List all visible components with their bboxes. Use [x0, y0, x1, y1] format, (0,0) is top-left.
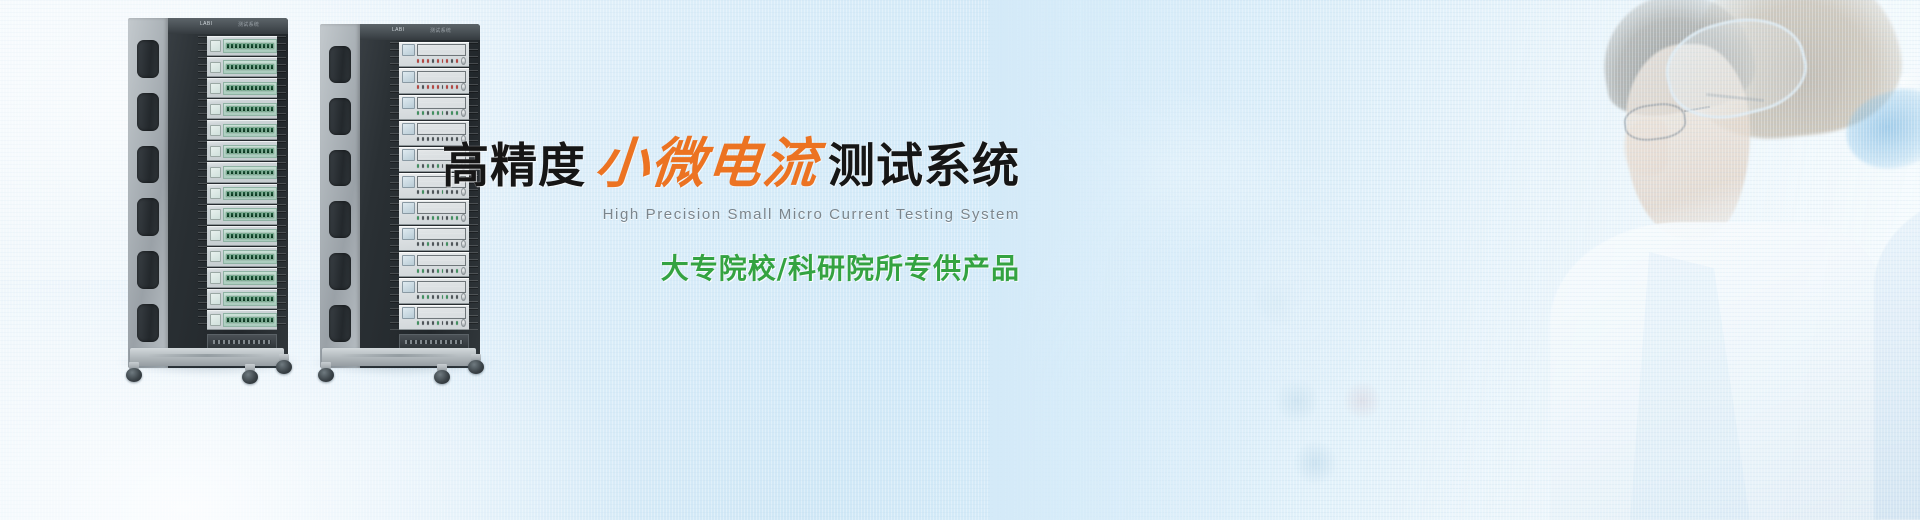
instrument-button — [427, 190, 429, 194]
instrument-button — [417, 111, 419, 115]
instrument-button — [417, 242, 419, 246]
rack-module-green-io — [207, 268, 277, 288]
instrument-button — [456, 295, 458, 299]
instrument-button — [437, 321, 439, 325]
instrument-button — [422, 321, 424, 325]
module-connector — [270, 317, 274, 323]
module-display — [210, 230, 221, 241]
instrument-button — [451, 59, 453, 63]
instrument-button — [422, 269, 424, 273]
instrument-lcd — [402, 307, 415, 319]
instrument-button-row — [402, 83, 466, 92]
rack-module-green-io — [207, 57, 277, 77]
module-display — [210, 83, 221, 94]
instrument-button — [451, 321, 453, 325]
rack-brand-logo: LABI — [200, 21, 212, 27]
instrument-lcd — [402, 281, 415, 293]
instrument-button — [417, 59, 419, 63]
module-display — [210, 251, 221, 262]
instrument-button — [456, 85, 458, 89]
instrument-button — [422, 59, 424, 63]
rack-module-instrument — [399, 305, 469, 330]
rack-rail-right — [277, 36, 286, 330]
instrument-button — [427, 216, 429, 220]
instrument-button — [427, 85, 429, 89]
rack-module-green-io — [207, 226, 277, 246]
instrument-button — [442, 85, 444, 89]
instrument-button — [422, 216, 424, 220]
module-connector — [270, 212, 274, 218]
lab-scientists-photo — [990, 0, 1920, 520]
instrument-lcd — [402, 44, 415, 56]
instrument-button — [417, 164, 419, 168]
product-banner: LABI 测试系统 LABI — [0, 0, 1920, 520]
instrument-top-row — [402, 97, 466, 109]
instrument-button — [446, 295, 448, 299]
instrument-button — [456, 111, 458, 115]
module-connector — [270, 296, 274, 302]
module-connector — [270, 85, 274, 91]
rack-top-cap: LABI 测试系统 — [166, 18, 288, 34]
instrument-button — [446, 85, 448, 89]
rack-module-instrument — [399, 42, 469, 67]
module-connector-strip — [223, 250, 277, 263]
module-connector-strip — [223, 124, 277, 137]
instrument-button — [417, 321, 419, 325]
module-connector — [270, 106, 274, 112]
rack-base-plinth — [322, 348, 476, 366]
rack-module-green-io — [207, 184, 277, 204]
module-connector — [270, 64, 274, 70]
banner-subtitle: High Precision Small Micro Current Testi… — [430, 206, 1020, 223]
instrument-button — [432, 295, 434, 299]
instrument-lcd — [402, 123, 415, 135]
instrument-button — [427, 242, 429, 246]
instrument-readout-panel — [417, 71, 466, 83]
rack-module-green-io — [207, 205, 277, 225]
module-connector — [270, 170, 274, 176]
instrument-button — [451, 85, 453, 89]
module-connector-strip — [223, 292, 277, 305]
instrument-lcd — [402, 97, 415, 109]
rack-caster-wheel — [468, 354, 484, 374]
module-connector — [270, 148, 274, 154]
instrument-lcd — [402, 71, 415, 83]
rack-side-vents — [329, 46, 351, 342]
instrument-button — [422, 137, 424, 141]
module-connector-strip — [223, 208, 277, 221]
module-display — [210, 40, 221, 51]
rack-module-green-io — [207, 141, 277, 161]
instrument-knob — [461, 57, 466, 65]
module-display — [210, 62, 221, 73]
module-connector-strip — [223, 60, 277, 73]
module-display — [210, 293, 221, 304]
instrument-button — [437, 111, 439, 115]
instrument-button — [451, 111, 453, 115]
instrument-button — [446, 321, 448, 325]
headline-prefix: 高精度 — [442, 143, 586, 190]
rack-model-label: 测试系统 — [430, 27, 451, 34]
rack-module-green-io — [207, 289, 277, 309]
instrument-knob — [461, 83, 466, 91]
instrument-knob — [461, 109, 466, 117]
module-connector-strip — [223, 187, 277, 200]
rack-module-green-io — [207, 247, 277, 267]
instrument-lcd — [402, 149, 415, 161]
module-display — [210, 125, 221, 136]
module-display — [210, 188, 221, 199]
rack-rail-left — [390, 42, 399, 330]
instrument-button-row — [402, 319, 466, 328]
instrument-button — [417, 295, 419, 299]
module-connector-strip — [223, 145, 277, 158]
instrument-button — [437, 59, 439, 63]
instrument-button — [442, 295, 444, 299]
instrument-button — [422, 242, 424, 246]
instrument-button — [442, 111, 444, 115]
rack-caster-wheel — [242, 364, 258, 384]
rack-caster-wheel — [276, 354, 292, 374]
instrument-button — [427, 321, 429, 325]
instrument-button — [427, 269, 429, 273]
instrument-button — [417, 190, 419, 194]
instrument-button — [422, 164, 424, 168]
instrument-knob — [461, 319, 466, 327]
instrument-rack-green-modules: LABI 测试系统 — [128, 18, 288, 368]
rack-model-label: 测试系统 — [238, 21, 259, 28]
instrument-top-row — [402, 44, 466, 56]
instrument-button — [422, 295, 424, 299]
instrument-top-row — [402, 307, 466, 319]
rack-frame: LABI 测试系统 — [162, 18, 288, 368]
instrument-button — [446, 59, 448, 63]
rack-top-cap: LABI 测试系统 — [358, 24, 480, 40]
instrument-button — [432, 59, 434, 63]
module-display — [210, 146, 221, 157]
rack-caster-wheel — [434, 364, 450, 384]
module-connector-strip — [223, 166, 277, 179]
module-display — [210, 272, 221, 283]
module-connector-strip — [223, 82, 277, 95]
rack-module-stack — [207, 36, 277, 330]
module-connector-strip — [223, 229, 277, 242]
instrument-button — [456, 321, 458, 325]
rack-module-green-io — [207, 36, 277, 56]
module-connector-strip — [223, 39, 277, 52]
module-connector — [270, 275, 274, 281]
module-display — [210, 104, 221, 115]
instrument-button — [417, 85, 419, 89]
module-connector — [270, 127, 274, 133]
rack-module-instrument — [399, 95, 469, 120]
instrument-button — [432, 111, 434, 115]
instrument-button-row — [402, 293, 466, 302]
instrument-button — [417, 137, 419, 141]
rack-module-green-io — [207, 162, 277, 182]
module-display — [210, 209, 221, 220]
instrument-top-row — [402, 71, 466, 83]
instrument-button — [422, 190, 424, 194]
instrument-lcd — [402, 202, 415, 214]
instrument-button — [446, 111, 448, 115]
instrument-button — [442, 321, 444, 325]
headline-highlight: 小微电流 — [593, 136, 822, 190]
rack-module-green-io — [207, 99, 277, 119]
rack-module-green-io — [207, 120, 277, 140]
instrument-readout-panel — [417, 44, 466, 56]
instrument-button — [417, 269, 419, 273]
module-connector-strip — [223, 313, 277, 326]
instrument-knob — [461, 293, 466, 301]
module-connector — [270, 191, 274, 197]
rack-side-panel — [320, 24, 360, 368]
instrument-button — [442, 59, 444, 63]
rack-module-instrument — [399, 68, 469, 93]
instrument-readout-panel — [417, 307, 466, 319]
instrument-button — [427, 137, 429, 141]
banner-tagline: 大专院校/科研院所专供产品 — [430, 247, 1020, 287]
instrument-button-row — [402, 56, 466, 65]
rack-side-panel — [128, 18, 168, 368]
instrument-button — [432, 321, 434, 325]
module-connector-strip — [223, 271, 277, 284]
instrument-button — [437, 295, 439, 299]
module-connector — [270, 43, 274, 49]
module-connector — [270, 254, 274, 260]
instrument-button — [417, 216, 419, 220]
instrument-button — [422, 85, 424, 89]
module-connector — [270, 233, 274, 239]
instrument-lcd — [402, 255, 415, 267]
instrument-button — [427, 59, 429, 63]
module-display — [210, 314, 221, 325]
instrument-lcd — [402, 228, 415, 240]
instrument-button — [451, 295, 453, 299]
instrument-lcd — [402, 176, 415, 188]
instrument-readout-panel — [417, 97, 466, 109]
page-title: 高精度 小微电流 测试系统 — [430, 128, 1020, 190]
module-connector-strip — [223, 103, 277, 116]
instrument-button — [422, 111, 424, 115]
instrument-button — [437, 85, 439, 89]
headline-suffix: 测试系统 — [828, 143, 1020, 190]
instrument-button-row — [402, 109, 466, 118]
rack-rail-left — [198, 36, 207, 330]
rack-side-vents — [137, 40, 159, 342]
rack-caster-wheel — [126, 362, 142, 382]
instrument-button — [427, 295, 429, 299]
instrument-button — [427, 164, 429, 168]
banner-copy: 高精度 小微电流 测试系统 High Precision Small Micro… — [430, 128, 1020, 287]
instrument-button — [427, 111, 429, 115]
rack-base-plinth — [130, 348, 284, 366]
rack-caster-wheel — [318, 362, 334, 382]
rack-module-green-io — [207, 78, 277, 98]
instrument-button — [456, 59, 458, 63]
instrument-button — [432, 85, 434, 89]
module-display — [210, 167, 221, 178]
rack-brand-logo: LABI — [392, 27, 404, 33]
rack-module-green-io — [207, 310, 277, 330]
